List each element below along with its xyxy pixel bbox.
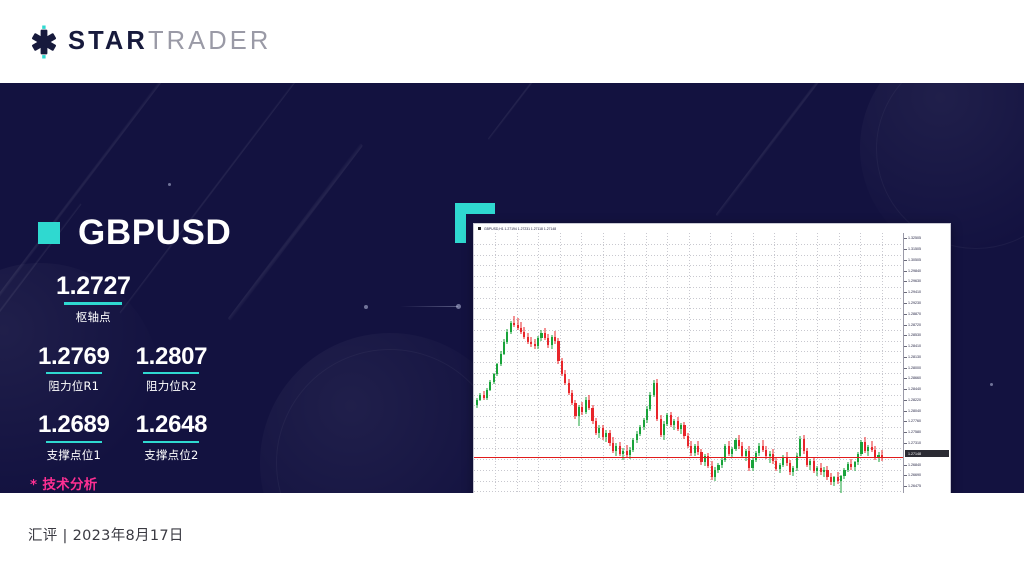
- candlestick: [728, 233, 730, 493]
- candle-body: [697, 446, 699, 452]
- candlestick: [479, 233, 481, 493]
- candlestick: [680, 233, 682, 493]
- candlestick: [568, 233, 570, 493]
- candle-body: [561, 361, 563, 374]
- candlestick: [823, 233, 825, 493]
- candlestick: [782, 233, 784, 493]
- candle-body: [799, 439, 801, 456]
- candle-body: [803, 439, 805, 452]
- candle-body: [534, 344, 536, 347]
- analysis-asterisk-icon: *: [30, 477, 37, 493]
- candle-body: [547, 338, 549, 346]
- candle-body: [690, 446, 692, 454]
- candle-body: [496, 364, 498, 374]
- price-chart-window[interactable]: GBPUSD,H1 1.27194 1.27231 1.27118 1.2714…: [473, 223, 951, 493]
- chart-marker-icon: [478, 227, 481, 230]
- candle-body: [741, 446, 743, 455]
- candlestick: [615, 233, 617, 493]
- candle-body: [758, 446, 760, 454]
- candlestick: [867, 233, 869, 493]
- candle-body: [789, 463, 791, 472]
- candlestick: [557, 233, 559, 493]
- candlestick: [806, 233, 808, 493]
- candle-body: [850, 464, 852, 467]
- candle-body: [864, 442, 866, 450]
- candlestick: [656, 233, 658, 493]
- candlestick: [639, 233, 641, 493]
- candle-body: [854, 462, 856, 467]
- candle-body: [677, 421, 679, 429]
- candlestick: [833, 233, 835, 493]
- candle-body: [564, 374, 566, 383]
- candlestick: [534, 233, 536, 493]
- candlestick: [520, 233, 522, 493]
- candlestick: [751, 233, 753, 493]
- candlestick: [837, 233, 839, 493]
- candle-body: [537, 338, 539, 346]
- candlestick: [598, 233, 600, 493]
- candlestick: [789, 233, 791, 493]
- candlestick: [809, 233, 811, 493]
- candle-body: [639, 427, 641, 434]
- price-tick-label: 1.26690: [904, 472, 950, 478]
- candle-body: [612, 443, 614, 451]
- candlestick: [854, 233, 856, 493]
- candlestick: [547, 233, 549, 493]
- candle-body: [646, 409, 648, 421]
- candlestick: [738, 233, 740, 493]
- price-tick-label: 1.29840: [904, 268, 950, 274]
- price-tick-label: 1.30505: [904, 257, 950, 263]
- square-bullet-icon: [38, 222, 60, 244]
- candlestick: [792, 233, 794, 493]
- candle-body: [809, 461, 811, 464]
- candlestick: [591, 233, 593, 493]
- candle-body: [687, 436, 689, 445]
- candlestick: [506, 233, 508, 493]
- candlestick: [871, 233, 873, 493]
- candlestick: [769, 233, 771, 493]
- candle-body: [830, 477, 832, 482]
- candlestick: [860, 233, 862, 493]
- candlestick: [731, 233, 733, 493]
- candlestick: [653, 233, 655, 493]
- candle-body: [871, 447, 873, 450]
- candle-body: [714, 470, 716, 478]
- candlestick: [714, 233, 716, 493]
- candlestick: [734, 233, 736, 493]
- candlestick: [711, 233, 713, 493]
- candlestick: [748, 233, 750, 493]
- price-tick-label: 1.28870: [904, 311, 950, 317]
- brand-name-light: TRADER: [148, 27, 271, 55]
- resistance2-level: 1.2807 阻力位R2: [136, 344, 208, 395]
- candlestick: [745, 233, 747, 493]
- main-panel: GBPUSD 1.2727 枢轴点 1.2769 阻力位R1 1.2807: [0, 83, 1024, 493]
- pivot-levels-group: 1.2727 枢轴点 1.2769 阻力位R1 1.2807 阻力位R2: [30, 273, 280, 463]
- candle-body: [653, 383, 655, 395]
- price-tick-label: 1.26840: [904, 462, 950, 468]
- candle-body: [826, 470, 828, 478]
- chart-ohlc-header: GBPUSD,H1 1.27194 1.27231 1.27118 1.2714…: [484, 227, 556, 231]
- candlestick: [803, 233, 805, 493]
- header-bar: STARTRADER: [0, 0, 1024, 83]
- candle-body: [520, 328, 522, 332]
- price-tick-label: 1.28530: [904, 332, 950, 338]
- candlestick: [564, 233, 566, 493]
- candlestick: [874, 233, 876, 493]
- candlestick: [826, 233, 828, 493]
- candlestick: [513, 233, 515, 493]
- candle-body: [820, 468, 822, 472]
- candlestick: [881, 233, 883, 493]
- asterisk-star-icon: [27, 25, 61, 59]
- candlestick: [765, 233, 767, 493]
- price-tick-label: 1.29230: [904, 300, 950, 306]
- footer-caption: 汇评 | 2023年8月17日: [28, 524, 184, 545]
- candle-body: [748, 451, 750, 468]
- candle-body: [527, 337, 529, 342]
- candle-body: [786, 457, 788, 463]
- candle-body: [660, 419, 662, 435]
- support1-value: 1.2689: [38, 412, 110, 437]
- candlestick: [877, 233, 879, 493]
- current-price-tag: 1.27148: [905, 450, 949, 457]
- price-tick-label: 1.29410: [904, 289, 950, 295]
- price-tick-label: 1.28000: [904, 365, 950, 371]
- candle-wick: [514, 316, 515, 327]
- candlestick: [489, 233, 491, 493]
- candlestick: [500, 233, 502, 493]
- candle-body: [598, 428, 600, 433]
- candlestick: [646, 233, 648, 493]
- candlestick: [850, 233, 852, 493]
- price-tick-label: 1.32505: [904, 235, 950, 241]
- support1-label: 支撑点位1: [38, 447, 110, 463]
- resistance1-label: 阻力位R1: [38, 378, 110, 394]
- candlestick: [554, 233, 556, 493]
- candle-body: [595, 421, 597, 433]
- candle-body: [670, 415, 672, 424]
- candle-body: [683, 425, 685, 436]
- candle-body: [513, 323, 515, 325]
- price-tick-label: 1.26475: [904, 483, 950, 489]
- candlestick: [530, 233, 532, 493]
- candle-body: [738, 440, 740, 446]
- candlestick: [486, 233, 488, 493]
- candlestick: [523, 233, 525, 493]
- technical-analysis-block: * 技术分析 多头持仓在枢轴点以上，目标位为阻力位R1及阻力位R2。 若低于枢轴…: [30, 473, 410, 493]
- candlestick: [476, 233, 478, 493]
- candlestick: [758, 233, 760, 493]
- candlestick: [700, 233, 702, 493]
- candlestick: [588, 233, 590, 493]
- support2-label: 支撑点位2: [136, 447, 208, 463]
- candle-body: [728, 446, 730, 454]
- support2-underline: [143, 441, 199, 444]
- brand-name-bold: STAR: [68, 27, 148, 55]
- candle-wick: [817, 466, 818, 476]
- candle-body: [540, 333, 542, 338]
- candlestick: [663, 233, 665, 493]
- candlestick: [602, 233, 604, 493]
- candlestick: [772, 233, 774, 493]
- candle-body: [551, 337, 553, 345]
- candlestick: [649, 233, 651, 493]
- candlestick: [483, 233, 485, 493]
- resistance2-underline: [143, 372, 199, 375]
- candlestick: [673, 233, 675, 493]
- candlestick: [820, 233, 822, 493]
- candle-body: [517, 325, 519, 328]
- candle-body: [510, 323, 512, 331]
- price-tick-label: 1.31505: [904, 246, 950, 252]
- candlestick: [775, 233, 777, 493]
- candle-body: [568, 383, 570, 393]
- chart-title-bar: GBPUSD,H1 1.27194 1.27231 1.27118 1.2714…: [474, 224, 950, 233]
- candlestick: [840, 233, 842, 493]
- candle-body: [765, 450, 767, 457]
- candle-body: [605, 433, 607, 437]
- candlestick: [694, 233, 696, 493]
- candle-body: [544, 333, 546, 338]
- candlestick: [632, 233, 634, 493]
- candlestick: [510, 233, 512, 493]
- candle-body: [585, 400, 587, 413]
- pivot-level: 1.2727 枢轴点: [56, 273, 131, 325]
- candlestick: [755, 233, 757, 493]
- candlestick: [741, 233, 743, 493]
- candlestick: [864, 233, 866, 493]
- price-tick-label: 1.28720: [904, 322, 950, 328]
- candlestick: [816, 233, 818, 493]
- candlestick: [578, 233, 580, 493]
- candlestick: [544, 233, 546, 493]
- brand-logo[interactable]: STARTRADER: [27, 25, 271, 59]
- candle-body: [673, 421, 675, 424]
- candle-body: [837, 477, 839, 481]
- candlestick: [813, 233, 815, 493]
- candlestick: [717, 233, 719, 493]
- price-tick-label: 1.27310: [904, 440, 950, 446]
- instrument-heading: GBPUSD: [38, 215, 231, 250]
- candle-body: [813, 461, 815, 470]
- price-tick-label: 1.28440: [904, 386, 950, 392]
- candle-body: [578, 407, 580, 416]
- candlestick: [843, 233, 845, 493]
- candlestick: [622, 233, 624, 493]
- support2-value: 1.2648: [136, 412, 208, 437]
- candle-body: [779, 465, 781, 469]
- candlestick: [847, 233, 849, 493]
- candlestick: [551, 233, 553, 493]
- analysis-title-text: 技术分析: [42, 477, 97, 493]
- candle-body: [745, 451, 747, 455]
- candle-body: [860, 442, 862, 454]
- price-tick-label: 1.28410: [904, 343, 950, 349]
- resistance1-level: 1.2769 阻力位R1: [38, 344, 110, 395]
- candlestick: [799, 233, 801, 493]
- candle-body: [782, 457, 784, 465]
- candle-body: [615, 446, 617, 451]
- candle-body: [608, 433, 610, 443]
- candle-body: [530, 342, 532, 344]
- candle-body: [591, 408, 593, 421]
- candlestick: [704, 233, 706, 493]
- candlestick: [581, 233, 583, 493]
- support2-level: 1.2648 支撑点位2: [136, 412, 208, 463]
- candle-body: [632, 440, 634, 449]
- candle-body: [711, 466, 713, 478]
- candlestick: [527, 233, 529, 493]
- candlestick: [636, 233, 638, 493]
- price-crosshair-line: [474, 457, 903, 458]
- candle-body: [581, 407, 583, 412]
- candle-body: [731, 449, 733, 454]
- candle-body: [694, 446, 696, 453]
- footer-bar: 汇评 | 2023年8月17日: [0, 493, 1024, 576]
- candlestick: [724, 233, 726, 493]
- candle-body: [486, 390, 488, 398]
- candle-wick: [824, 467, 825, 477]
- resistance2-value: 1.2807: [136, 344, 208, 369]
- candle-body: [643, 420, 645, 427]
- candle-body: [483, 395, 485, 398]
- candlestick: [517, 233, 519, 493]
- candlestick: [496, 233, 498, 493]
- price-tick-label: 1.28130: [904, 354, 950, 360]
- candle-body: [500, 354, 502, 365]
- price-tick-label: 1.29630: [904, 278, 950, 284]
- candle-body: [847, 464, 849, 470]
- pivot-value: 1.2727: [56, 273, 131, 299]
- pivot-underline: [64, 302, 122, 305]
- candlestick: [608, 233, 610, 493]
- candlestick: [786, 233, 788, 493]
- candle-body: [666, 415, 668, 423]
- candlestick: [670, 233, 672, 493]
- candle-body: [493, 374, 495, 382]
- candle-body: [588, 400, 590, 408]
- candle-body: [574, 403, 576, 416]
- candle-body: [656, 383, 658, 419]
- candle-body: [806, 451, 808, 464]
- resistance1-underline: [46, 372, 102, 375]
- candle-body: [622, 451, 624, 454]
- candlestick: [762, 233, 764, 493]
- candlestick: [561, 233, 563, 493]
- candle-wick: [517, 318, 518, 331]
- candlestick: [857, 233, 859, 493]
- candle-body: [792, 468, 794, 472]
- candlestick: [677, 233, 679, 493]
- candlestick: [571, 233, 573, 493]
- candlestick: [796, 233, 798, 493]
- candle-body: [833, 477, 835, 482]
- candle-body: [762, 446, 764, 450]
- candle-body: [636, 434, 638, 441]
- candlestick: [595, 233, 597, 493]
- chart-price-axis[interactable]: 1.325051.315051.305051.298401.296301.294…: [903, 233, 950, 493]
- candle-body: [626, 451, 628, 455]
- candle-body: [721, 460, 723, 465]
- candle-body: [479, 395, 481, 400]
- candle-body: [823, 470, 825, 473]
- candle-body: [734, 440, 736, 448]
- candlestick: [707, 233, 709, 493]
- candlestick: [619, 233, 621, 493]
- candlestick: [537, 233, 539, 493]
- price-tick-label: 1.28220: [904, 397, 950, 403]
- candle-body: [816, 468, 818, 471]
- candlestick: [605, 233, 607, 493]
- candlestick: [666, 233, 668, 493]
- resistance1-value: 1.2769: [38, 344, 110, 369]
- price-tick-label: 1.28040: [904, 408, 950, 414]
- candle-body: [619, 446, 621, 454]
- candlestick: [585, 233, 587, 493]
- slide-root: STARTRADER: [0, 0, 1024, 576]
- candlestick: [612, 233, 614, 493]
- candle-body: [649, 395, 651, 409]
- price-tick-label: 1.27580: [904, 429, 950, 435]
- price-tick-label: 1.27760: [904, 418, 950, 424]
- price-tick-label: 1.28660: [904, 375, 950, 381]
- candlestick: [830, 233, 832, 493]
- brand-name: STARTRADER: [68, 29, 271, 55]
- candlestick: [779, 233, 781, 493]
- candle-body: [489, 382, 491, 390]
- candlestick: [626, 233, 628, 493]
- candle-body: [843, 470, 845, 477]
- candlestick: [697, 233, 699, 493]
- candle-body: [663, 424, 665, 435]
- candlestick: [493, 233, 495, 493]
- support1-level: 1.2689 支撑点位1: [38, 412, 110, 463]
- pivot-label: 枢轴点: [56, 309, 131, 325]
- candle-body: [867, 447, 869, 450]
- candle-body: [503, 342, 505, 354]
- candle-body: [554, 337, 556, 341]
- instrument-symbol: GBPUSD: [78, 215, 231, 250]
- candle-body: [476, 400, 478, 405]
- candle-body: [523, 332, 525, 337]
- chart-plot-area[interactable]: [474, 233, 903, 493]
- candle-body: [680, 425, 682, 428]
- candlestick: [540, 233, 542, 493]
- candlestick: [683, 233, 685, 493]
- candlestick: [629, 233, 631, 493]
- candle-body: [629, 450, 631, 455]
- analysis-title: * 技术分析: [30, 473, 410, 493]
- candle-body: [602, 428, 604, 437]
- resistance2-label: 阻力位R2: [136, 378, 208, 394]
- candle-body: [717, 465, 719, 470]
- candle-body: [506, 332, 508, 342]
- candlestick: [721, 233, 723, 493]
- candlestick: [643, 233, 645, 493]
- candlestick: [503, 233, 505, 493]
- candle-body: [557, 341, 559, 361]
- candle-body: [857, 454, 859, 462]
- candle-body: [751, 460, 753, 468]
- candlestick: [690, 233, 692, 493]
- candle-body: [571, 393, 573, 403]
- candle-body: [775, 461, 777, 469]
- candlestick: [660, 233, 662, 493]
- candlestick: [574, 233, 576, 493]
- candle-body: [840, 476, 842, 481]
